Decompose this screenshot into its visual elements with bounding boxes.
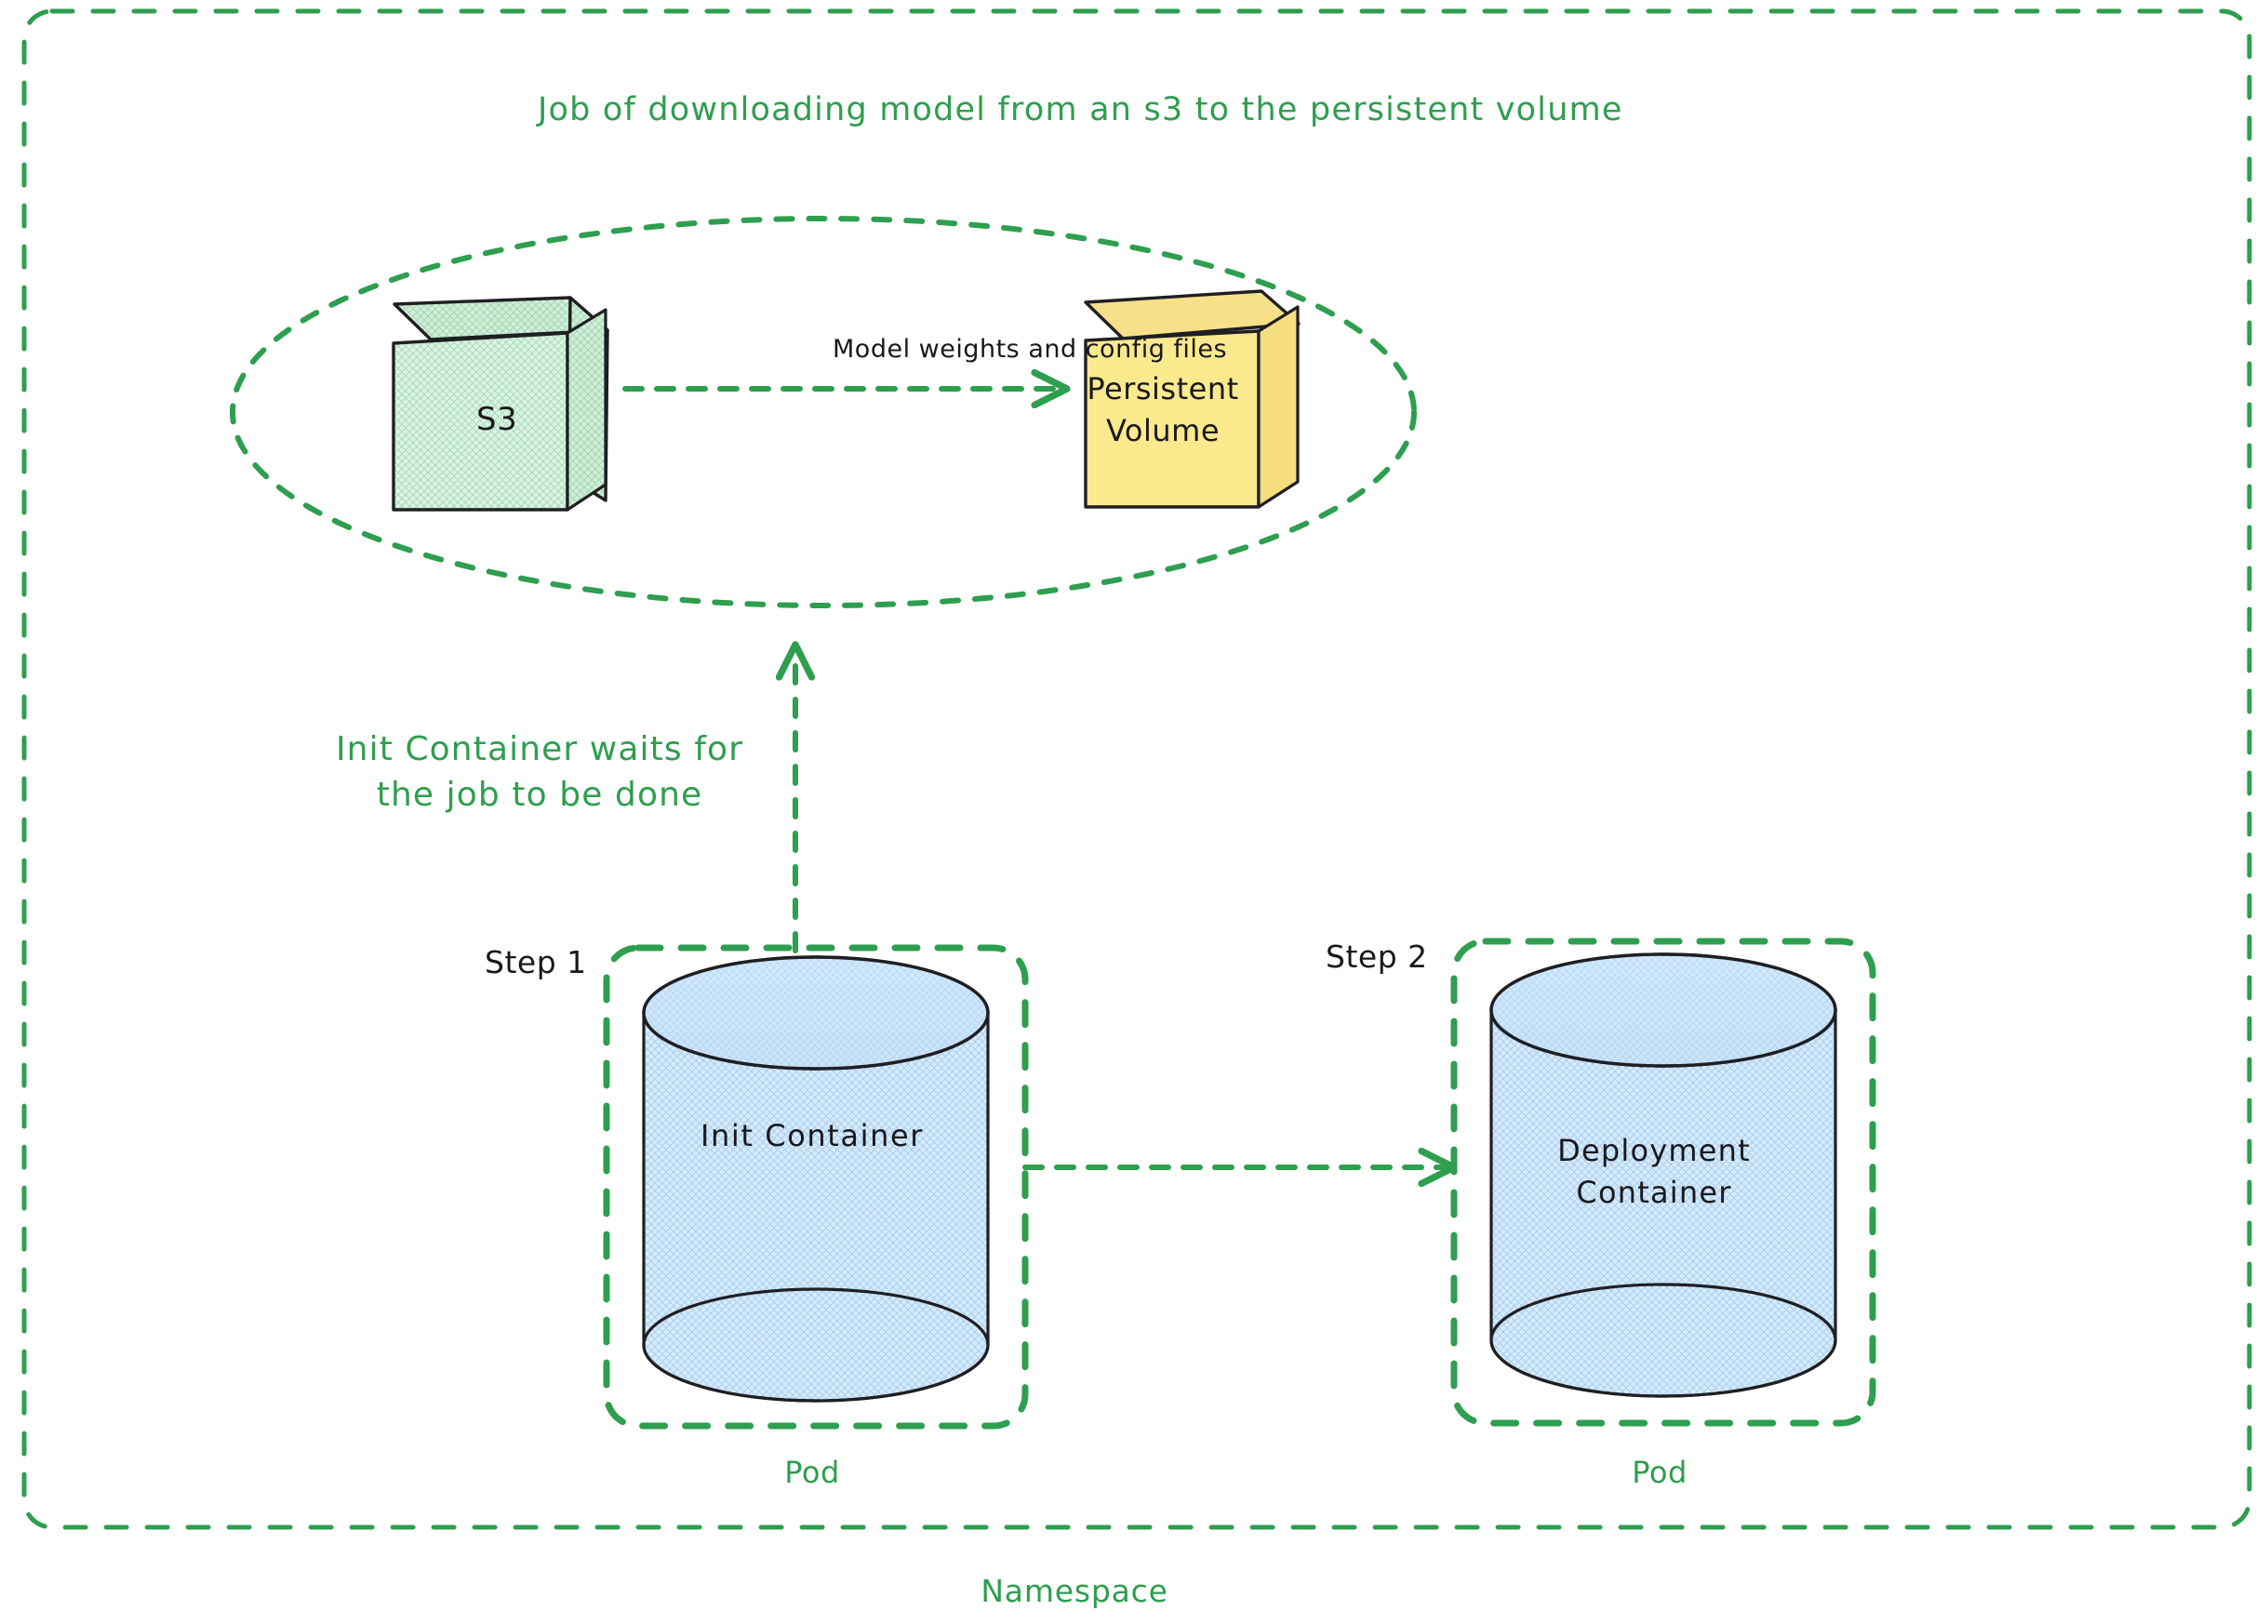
- init-container-label: Init Container: [700, 1119, 924, 1154]
- persistent-volume-label-line2: Volume: [1106, 413, 1220, 448]
- pod-deployment-label: Pod: [1632, 1456, 1688, 1491]
- job-title-label: Job of downloading model from an s3 to t…: [538, 91, 1623, 129]
- step-2-label: Step 2: [1326, 939, 1428, 976]
- s3-cube-label: S3: [476, 401, 517, 438]
- pod-init-label: Pod: [784, 1456, 840, 1491]
- wait-label-line2: the job to be done: [377, 776, 703, 814]
- wait-label-line1: Init Container waits for: [336, 730, 743, 768]
- persistent-volume-cube-label: PersistentVolume: [1087, 368, 1238, 453]
- model-transfer-edge-label: Model weights and config files: [833, 335, 1227, 365]
- deployment-container-label: DeploymentContainer: [1557, 1130, 1751, 1215]
- deployment-container-label-line2: Container: [1576, 1175, 1731, 1210]
- namespace-label: Namespace: [981, 1574, 1167, 1610]
- step-1-label: Step 1: [485, 945, 587, 981]
- persistent-volume-label-line1: Persistent: [1087, 371, 1238, 406]
- init-container-wait-label: Init Container waits forthe job to be do…: [336, 727, 743, 818]
- init-container[interactable]: [644, 957, 988, 1401]
- deployment-container-label-line1: Deployment: [1557, 1133, 1751, 1168]
